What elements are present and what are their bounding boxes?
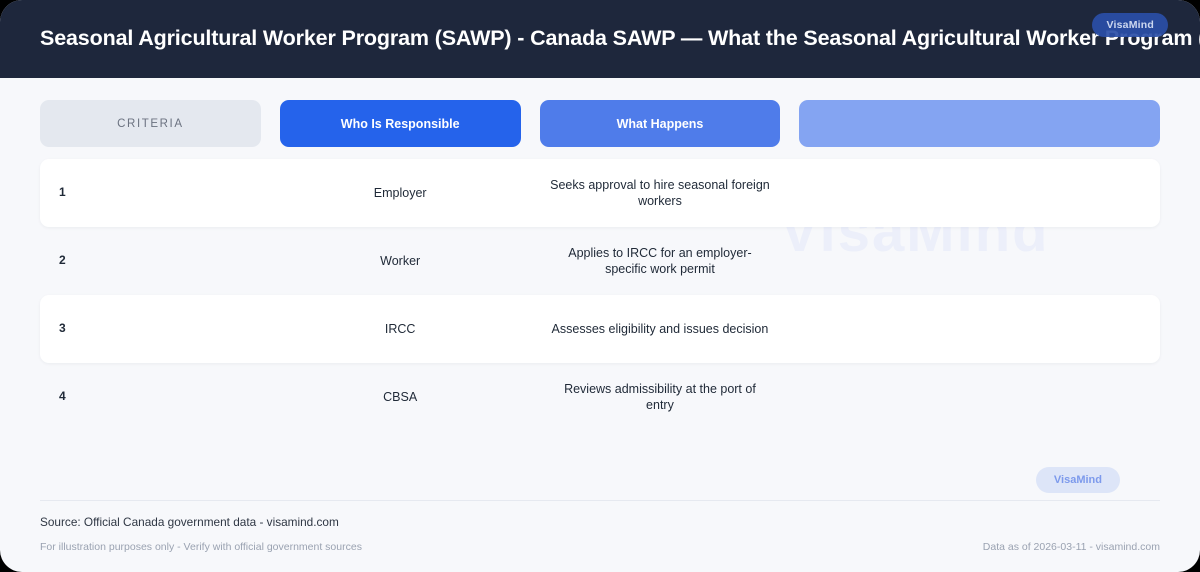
table-body: 1 Employer Seeks approval to hire season… xyxy=(40,159,1160,431)
cell-criteria: 4 xyxy=(40,389,261,404)
column-header-what-happens[interactable]: What Happens xyxy=(540,100,781,147)
footer-source-text: Source: Official Canada government data … xyxy=(40,515,1160,529)
table-row: 3 IRCC Assesses eligibility and issues d… xyxy=(40,295,1160,363)
footer-disclaimer-text: For illustration purposes only - Verify … xyxy=(40,541,362,553)
table-row: 4 CBSA Reviews admissibility at the port… xyxy=(40,363,1160,431)
cell-what-happens: Assesses eligibility and issues decision xyxy=(540,321,781,337)
column-header-empty[interactable] xyxy=(799,100,1160,147)
cell-who-is-responsible: Employer xyxy=(280,185,521,201)
header-brand-badge: VisaMind xyxy=(1092,13,1168,37)
cell-criteria: 2 xyxy=(40,253,261,268)
page-header: Seasonal Agricultural Worker Program (SA… xyxy=(0,0,1200,78)
cell-criteria: 1 xyxy=(40,185,261,200)
table-row: 2 Worker Applies to IRCC for an employer… xyxy=(40,227,1160,295)
cell-who-is-responsible: IRCC xyxy=(280,321,521,337)
cell-who-is-responsible: Worker xyxy=(280,253,521,269)
content-area: VisaMind CRITERIA Who Is Responsible Wha… xyxy=(0,78,1200,493)
footer-brand-badge: VisaMind xyxy=(1036,467,1120,493)
cell-what-happens: Reviews admissibility at the port of ent… xyxy=(540,381,781,413)
page-title: Seasonal Agricultural Worker Program (SA… xyxy=(40,26,1200,52)
cell-what-happens: Applies to IRCC for an employer-specific… xyxy=(540,245,781,277)
cell-who-is-responsible: CBSA xyxy=(280,389,521,405)
table-column-headers: CRITERIA Who Is Responsible What Happens xyxy=(40,100,1160,147)
table-row: 1 Employer Seeks approval to hire season… xyxy=(40,159,1160,227)
column-header-who-is-responsible[interactable]: Who Is Responsible xyxy=(280,100,521,147)
column-header-criteria[interactable]: CRITERIA xyxy=(40,100,261,147)
page-root: Seasonal Agricultural Worker Program (SA… xyxy=(0,0,1200,572)
cell-criteria: 3 xyxy=(40,321,261,336)
footer-meta-row: For illustration purposes only - Verify … xyxy=(40,541,1160,553)
cell-what-happens: Seeks approval to hire seasonal foreign … xyxy=(540,177,781,209)
footer-data-asof-text: Data as of 2026-03-11 - visamind.com xyxy=(983,541,1160,553)
page-footer: Source: Official Canada government data … xyxy=(40,500,1160,572)
footer-badge-container: VisaMind xyxy=(40,467,1160,493)
